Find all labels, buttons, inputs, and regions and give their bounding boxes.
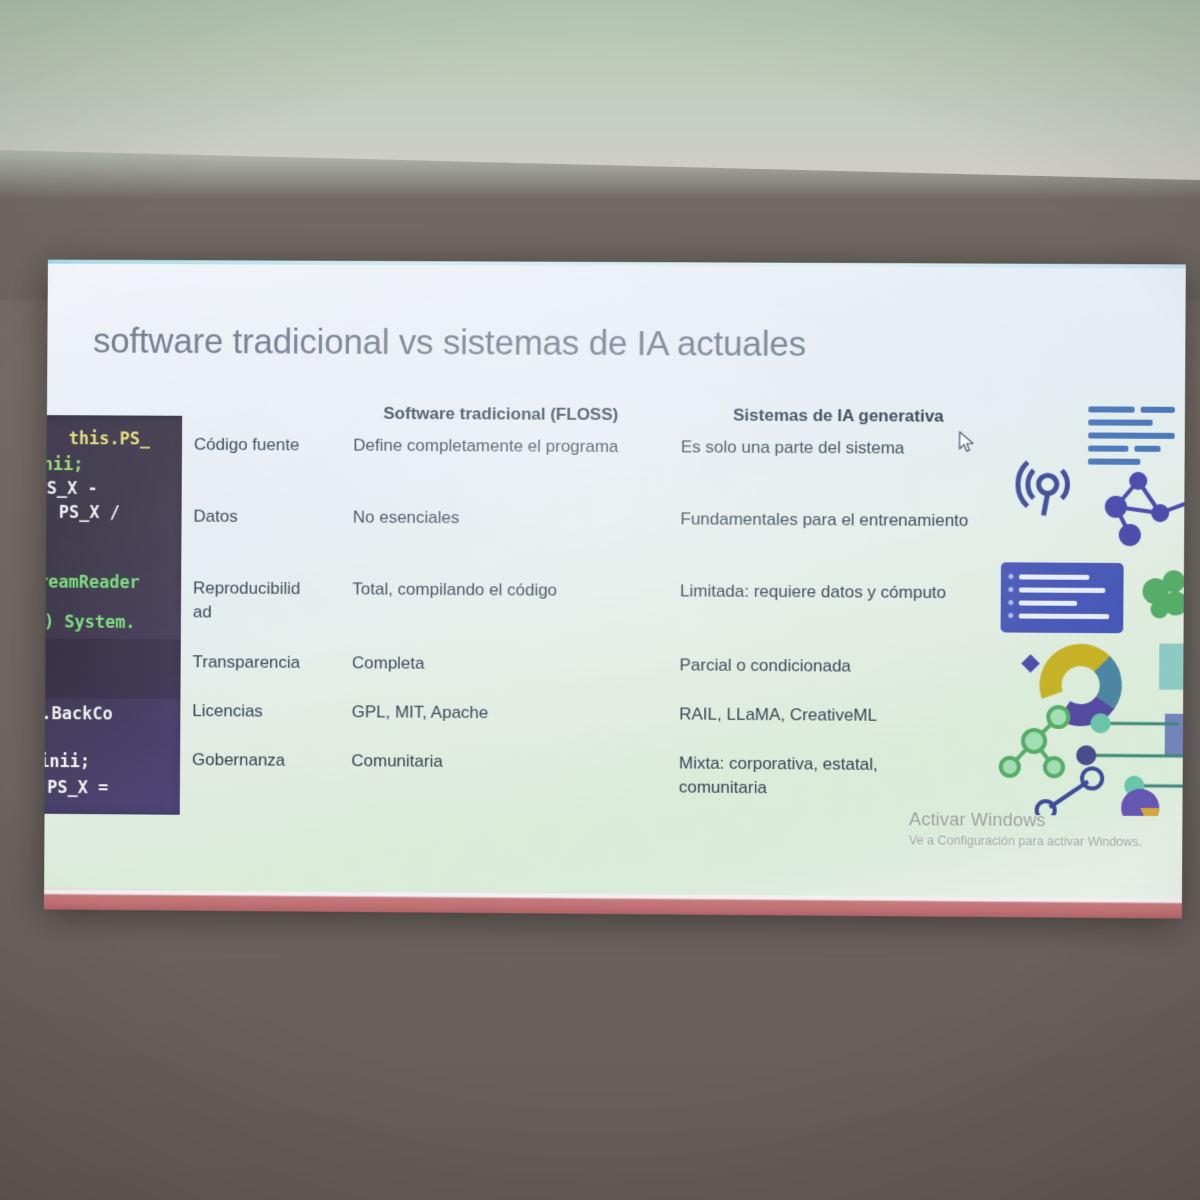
- decorative-tech-illustration: [987, 394, 1185, 816]
- table-row: Transparencia Completa Parcial o condici…: [192, 650, 1092, 705]
- row-genai-value: Es solo una parte del sistema: [681, 435, 1042, 461]
- watermark-title: Activar Windows: [909, 809, 1142, 832]
- row-label: Datos: [193, 505, 315, 530]
- row-floss-value: Total, compilando el código: [352, 577, 682, 603]
- row-floss-value: Define completamente el programa: [353, 434, 683, 460]
- code-line: Linii;: [44, 752, 90, 772]
- row-floss-value: Comunitaria: [351, 749, 681, 775]
- row-floss-value: Completa: [352, 651, 682, 677]
- column-header-floss: Software tradicional (FLOSS): [383, 404, 618, 425]
- presentation-slide: software tradicional vs sistemas de IA a…: [44, 260, 1186, 919]
- row-genai-value: Fundamentales para el entrenamiento: [680, 507, 1041, 533]
- code-panel-gap: [44, 638, 181, 699]
- table-row: Licencias GPL, MIT, Apache RAIL, LLaMA, …: [192, 699, 1092, 754]
- table-row: Datos No esenciales Fundamentales para e…: [193, 505, 1094, 582]
- circuit-node: [1090, 713, 1110, 733]
- row-genai-value: Mixta: corporativa, estatal, comunitaria: [679, 751, 940, 801]
- broadcast-icon: [1018, 462, 1068, 515]
- leaf-cluster-icon: [1142, 570, 1185, 618]
- row-floss-value: GPL, MIT, Apache: [352, 700, 682, 726]
- code-line: , PS_X /: [44, 503, 120, 523]
- text-lines-icon: [1088, 406, 1175, 465]
- table-row: Reproducibilid ad Total, compilando el c…: [193, 576, 1094, 656]
- mouse-pointer-icon: [958, 431, 976, 460]
- code-line: PS_X -: [44, 479, 98, 499]
- link-nodes-icon: [1037, 768, 1103, 816]
- row-genai-value: RAIL, LLaMA, CreativeML: [679, 702, 1040, 729]
- windows-activation-watermark: Activar Windows Ve a Configuración para …: [909, 809, 1142, 849]
- row-label: Código fuente: [194, 433, 316, 458]
- code-line: this.PS_: [69, 429, 151, 449]
- code-line: reamReader: [44, 573, 140, 594]
- row-label: Transparencia: [193, 650, 315, 675]
- comparison-table: Software tradicional (FLOSS) Sistemas de…: [192, 403, 1095, 815]
- watermark-subtitle: Ve a Configuración para activar Windows.: [909, 833, 1142, 849]
- code-line: , PS_X =: [44, 778, 108, 799]
- network-nodes-icon: [1107, 474, 1186, 545]
- projection-screen: software tradicional vs sistemas de IA a…: [44, 260, 1186, 919]
- cube-icon: [1159, 644, 1186, 757]
- page-title: software tradicional vs sistemas de IA a…: [93, 322, 806, 365]
- code-line: nii;: [44, 455, 83, 475]
- column-header-genai: Sistemas de IA generativa: [733, 406, 944, 427]
- circuit-node: [1076, 745, 1096, 765]
- row-genai-value: Parcial o condicionada: [679, 653, 1040, 680]
- row-label: Reproducibilid ad: [193, 576, 315, 625]
- row-floss-value: No esenciales: [353, 506, 683, 532]
- code-line: g.BackCo: [44, 704, 113, 724]
- table-row: Gobernanza Comunitaria Mixta: corporativ…: [192, 748, 1093, 815]
- molecule-green-icon: [1001, 707, 1069, 777]
- code-line: )) System.: [44, 612, 136, 633]
- row-label: Licencias: [192, 699, 314, 724]
- diamond-icon: [1021, 654, 1039, 672]
- code-editor-panel: this.PS_ nii; PS_X - , PS_X / reamReader…: [44, 415, 182, 815]
- document-list-icon: [1001, 562, 1124, 633]
- row-label: Gobernanza: [192, 748, 314, 773]
